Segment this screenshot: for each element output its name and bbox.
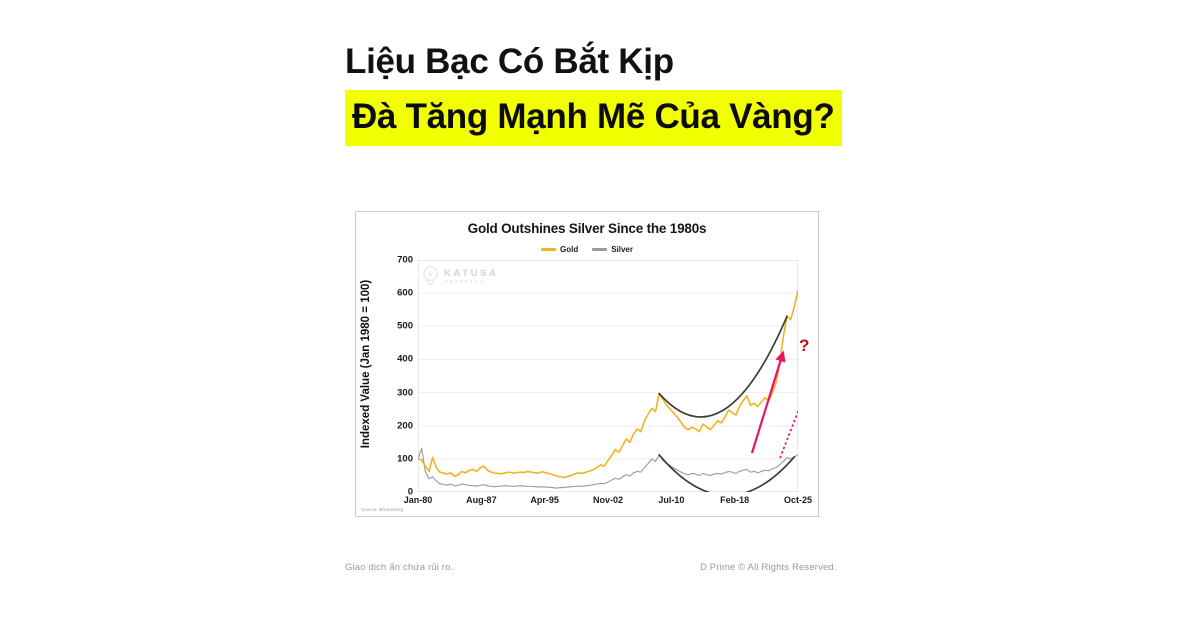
headline-line-2: Đà Tăng Mạnh Mẽ Của Vàng? <box>345 90 842 146</box>
chart-title: Gold Outshines Silver Since the 1980s <box>356 221 818 236</box>
y-axis-title: Indexed Value (Jan 1980 = 100) <box>360 264 372 464</box>
chart-card: Gold Outshines Silver Since the 1980s Go… <box>355 211 819 517</box>
x-axis-tick-label: Oct-25 <box>784 495 812 505</box>
watermark-name: KATUSA <box>444 269 498 279</box>
y-axis-tick-label: 100 <box>397 453 413 464</box>
headline-block: Liệu Bạc Có Bắt Kịp Đà Tăng Mạnh Mẽ Của … <box>345 40 1045 146</box>
x-axis-tick-label: Apr-95 <box>530 495 559 505</box>
legend-swatch-silver <box>592 248 607 251</box>
y-axis-tick-label: 700 <box>397 255 413 266</box>
chart-legend: Gold Silver <box>356 245 818 254</box>
x-axis-tick-label: Jul-10 <box>658 495 684 505</box>
y-axis-tick-label: 200 <box>397 420 413 431</box>
x-axis-ticks: Jan-80Aug-87Apr-95Nov-02Jul-10Feb-18Oct-… <box>418 495 798 511</box>
katusa-watermark: K KATUSA RESEARCH <box>422 266 498 287</box>
plot-area: 0100200300400500600700 <box>418 260 798 492</box>
x-axis-tick-label: Feb-18 <box>720 495 749 505</box>
footer-copyright: D Prime © All Rights Reserved. <box>700 562 837 573</box>
y-axis-tick-label: 300 <box>397 387 413 398</box>
question-mark-annotation: ? <box>799 337 809 354</box>
y-axis-tick-label: 500 <box>397 321 413 332</box>
legend-label-silver: Silver <box>611 245 633 254</box>
legend-label-gold: Gold <box>560 245 578 254</box>
legend-item-silver: Silver <box>592 245 633 254</box>
y-axis-tick-label: 600 <box>397 288 413 299</box>
trend-arrow-silver <box>780 386 798 458</box>
cup-arc-silver <box>659 455 794 492</box>
x-axis-tick-label: Aug-87 <box>466 495 497 505</box>
x-axis-tick-label: Jan-80 <box>404 495 433 505</box>
plot-frame <box>418 260 798 492</box>
series-line-silver <box>418 448 798 488</box>
legend-swatch-gold <box>541 248 556 251</box>
series-line-gold <box>418 290 798 478</box>
headline-line-1: Liệu Bạc Có Bắt Kịp <box>345 40 1045 84</box>
y-axis-tick-label: 400 <box>397 354 413 365</box>
chart-source-note: Source: Bloomberg <box>361 507 403 512</box>
headline-line-2-wrapper: Đà Tăng Mạnh Mẽ Của Vàng? <box>345 90 1045 146</box>
grid-lines <box>418 260 798 459</box>
watermark-text: KATUSA RESEARCH <box>444 269 498 285</box>
svg-text:K: K <box>427 270 433 278</box>
chart-plot-svg <box>418 260 798 492</box>
watermark-subtitle: RESEARCH <box>445 280 498 284</box>
x-axis-tick-label: Nov-02 <box>593 495 623 505</box>
footer-disclaimer: Giao dịch ẩn chứa rủi ro. <box>345 562 453 573</box>
legend-item-gold: Gold <box>541 245 578 254</box>
lightbulb-icon: K <box>422 266 439 287</box>
